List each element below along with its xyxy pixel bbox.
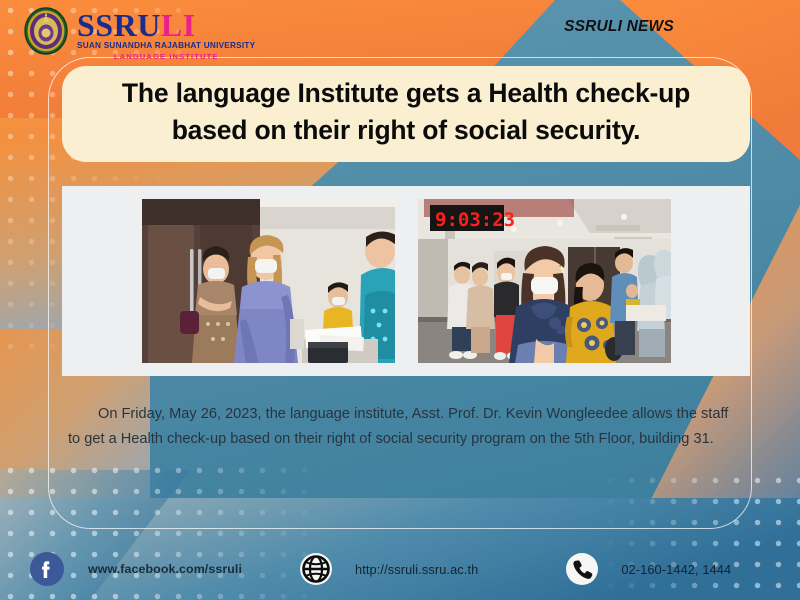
globe-icon [299, 552, 333, 586]
facebook-label-wrap[interactable]: www.facebook.com/ssruli [88, 562, 242, 576]
website-url-label: http://ssruli.ssru.ac.th [355, 562, 478, 577]
phone-number-label: 02-160-1442, 1444 [621, 562, 731, 577]
website-link[interactable] [299, 552, 333, 586]
svg-text:9:03:23: 9:03:23 [435, 209, 515, 231]
headline-banner: The language Institute gets a Health che… [62, 66, 750, 162]
phone-icon [565, 552, 599, 586]
brand-acronym-ssru: SSRU [77, 7, 161, 43]
article-body-text: On Friday, May 26, 2023, the language in… [68, 402, 734, 452]
university-seal-icon [22, 6, 70, 56]
footer-contact-bar: www.facebook.com/ssruli http://ssruli.ss… [0, 538, 800, 600]
brand-acronym-li: LI [161, 7, 196, 43]
brand-institute-name: LANGUAGE INSTITUTE [77, 51, 255, 62]
phone-label-wrap[interactable]: 02-160-1442, 1444 [621, 562, 731, 577]
brand-university-name: SUAN SUNANDHA RAJABHAT UNIVERSITY [77, 40, 255, 51]
headline-line-2: based on their right of social security. [172, 112, 641, 149]
brand-acronym: SSRULI [77, 10, 255, 40]
article-body: On Friday, May 26, 2023, the language in… [62, 396, 750, 452]
phone-contact[interactable] [565, 552, 599, 586]
facebook-icon [30, 552, 64, 586]
photo-waiting-room-clock: 9:03:23 [418, 199, 671, 363]
photo-queue-hallway [142, 199, 395, 363]
photo-gallery: 9:03:23 [62, 186, 750, 376]
news-tag: SSRULI NEWS [530, 18, 800, 36]
facebook-url-label: www.facebook.com/ssruli [88, 562, 242, 576]
facebook-link[interactable] [30, 552, 64, 586]
brand-logo: SSRULI SUAN SUNANDHA RAJABHAT UNIVERSITY… [22, 6, 255, 62]
website-label-wrap[interactable]: http://ssruli.ssru.ac.th [355, 562, 478, 577]
headline-line-1: The language Institute gets a Health che… [122, 75, 690, 112]
